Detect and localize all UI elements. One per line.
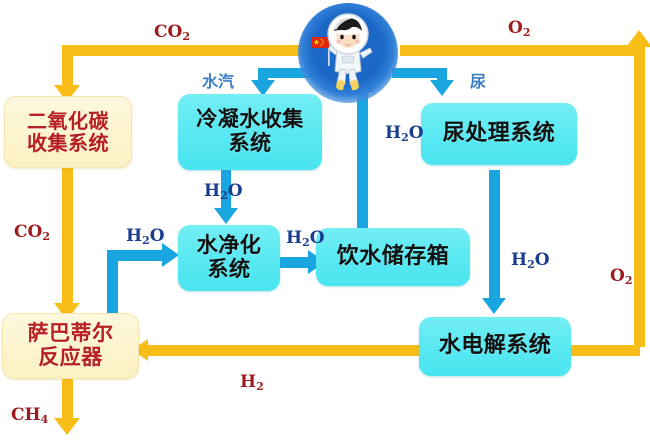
- chinese-flag-icon: [312, 36, 330, 66]
- edge-label-ch4-bottom: CH4: [11, 405, 48, 426]
- flow-line-sabatier-water-right: [107, 250, 164, 261]
- flow-line-o2-right: [634, 45, 645, 347]
- flow-line-o2-top: [400, 45, 640, 56]
- formula-tail: O: [150, 226, 165, 246]
- formula-subscript: 2: [182, 30, 190, 43]
- node-label: 水电解系统: [419, 334, 571, 359]
- edge-label-urine: 尿: [470, 68, 486, 92]
- formula-subscript: 2: [256, 380, 264, 393]
- arrowhead-sabatier-water-into-purifier: [162, 243, 179, 267]
- arrowhead-urine-into-treatment: [430, 80, 454, 96]
- formula-text: CH: [11, 405, 41, 425]
- astronaut-icon: [298, 3, 398, 103]
- node-water-electrolysis-system[interactable]: 水电解系统: [419, 317, 571, 376]
- formula-text: H: [286, 228, 302, 248]
- formula-subscript: 4: [41, 413, 49, 426]
- node-condensate-collection-system[interactable]: 冷凝水收集 系统: [178, 94, 322, 170]
- formula-text: O: [610, 266, 625, 286]
- formula-tail: O: [310, 228, 325, 248]
- edge-label-o2-top: O2: [508, 18, 530, 39]
- node-co2-collection-system[interactable]: 二氧化碳 收集系统: [4, 96, 132, 168]
- formula-text: CO: [154, 22, 182, 42]
- flow-line-co2-down: [62, 45, 73, 88]
- arrowhead-o2-riser: [626, 30, 650, 47]
- formula-tail: O: [535, 250, 550, 270]
- arrowhead-ch4-vent: [54, 418, 80, 435]
- formula-subscript: 2: [527, 258, 535, 271]
- arrowhead-water-into-electrolysis: [482, 298, 506, 314]
- astronaut-figure: [298, 3, 398, 103]
- formula-subscript: 2: [523, 26, 531, 39]
- node-water-purification-system[interactable]: 水净化 系统: [178, 225, 280, 291]
- edge-label-h2o-sabatier-out: H2O: [126, 226, 165, 247]
- flow-line-co2-left: [62, 168, 73, 308]
- node-label: 水净化 系统: [178, 234, 280, 281]
- formula-subscript: 2: [302, 236, 310, 249]
- node-sabatier-reactor[interactable]: 萨巴蒂尔 反应器: [2, 313, 139, 379]
- formula-tail: O: [409, 123, 424, 143]
- edge-label-h2o-to-crew: H2O: [385, 123, 424, 144]
- flow-line-urine-water-to-electrolysis: [489, 170, 500, 300]
- formula-text: H: [511, 250, 527, 270]
- formula-text: H: [204, 181, 220, 201]
- edge-label-co2-top: CO2: [154, 22, 190, 43]
- node-label: 冷凝水收集 系统: [178, 108, 322, 155]
- formula-text: H: [385, 123, 401, 143]
- formula-subscript: 2: [220, 189, 228, 202]
- formula-subscript: 2: [42, 230, 50, 243]
- node-label: 尿处理系统: [421, 122, 577, 147]
- node-drinking-water-storage-tank[interactable]: 饮水储存箱: [316, 228, 470, 286]
- flow-line-purifier-to-storage: [279, 257, 311, 268]
- formula-text: CO: [14, 222, 42, 242]
- edge-label-water-vapor: 水汽: [202, 68, 234, 92]
- node-label: 二氧化碳 收集系统: [5, 110, 131, 155]
- diagram-canvas: 二氧化碳 收集系统 冷凝水收集 系统 尿处理系统 水净化 系统 饮水储存箱 水电…: [0, 0, 650, 441]
- arrowhead-condensate-into-purifier: [214, 208, 238, 224]
- flow-line-water-to-crew: [357, 90, 368, 230]
- edge-label-o2-right: O2: [610, 266, 632, 287]
- edge-label-h2o-condensate-out: H2O: [204, 181, 243, 202]
- node-label: 萨巴蒂尔 反应器: [3, 322, 138, 369]
- edge-label-co2-left: CO2: [14, 222, 50, 243]
- edge-label-h2o-urine-out: H2O: [511, 250, 550, 271]
- formula-subscript: 2: [401, 131, 409, 144]
- formula-text: O: [508, 18, 523, 38]
- node-urine-treatment-system[interactable]: 尿处理系统: [421, 103, 577, 165]
- formula-subscript: 2: [142, 234, 150, 247]
- flow-line-ch4: [62, 376, 73, 421]
- formula-subscript: 2: [625, 274, 633, 287]
- formula-text: H: [126, 226, 142, 246]
- formula-tail: O: [228, 181, 243, 201]
- formula-text: H: [240, 372, 256, 392]
- edge-label-h2-bottom: H2: [240, 372, 264, 393]
- edge-label-h2o-purifier-out: H2O: [286, 228, 325, 249]
- node-label: 饮水储存箱: [316, 245, 470, 270]
